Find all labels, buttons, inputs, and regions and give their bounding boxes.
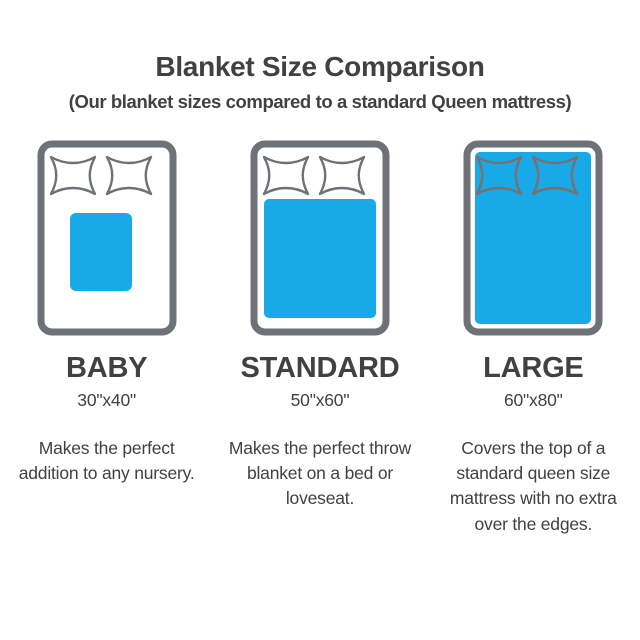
bed-diagram-large (463, 140, 603, 340)
column-standard: STANDARD 50"x60" Makes the perfect throw… (213, 140, 426, 512)
description-large: Covers the top of a standard queen size … (438, 436, 628, 538)
mattress-with-pillows-icon (37, 140, 177, 336)
pillow-right-icon (107, 157, 151, 194)
size-label-baby: BABY (66, 354, 147, 383)
size-label-standard: STANDARD (241, 354, 400, 383)
blanket-overlay-icon (70, 213, 132, 291)
page-title: Blanket Size Comparison (0, 52, 640, 83)
pillow-left-icon (264, 157, 308, 194)
description-standard: Makes the perfect throw blanket on a bed… (225, 436, 415, 512)
column-large: LARGE 60"x80" Covers the top of a standa… (427, 140, 640, 537)
blanket-size-comparison-infographic: Blanket Size Comparison (Our blanket siz… (0, 0, 640, 640)
description-baby: Makes the perfect addition to any nurser… (12, 436, 202, 487)
pillow-right-icon (320, 157, 364, 194)
size-dimensions-large: 60"x80" (504, 392, 563, 410)
blanket-overlay-icon (264, 199, 376, 318)
comparison-columns: BABY 30"x40" Makes the perfect addition … (0, 140, 640, 537)
header: Blanket Size Comparison (Our blanket siz… (0, 0, 640, 112)
mattress-with-pillows-icon (463, 140, 603, 336)
size-dimensions-baby: 30"x40" (77, 392, 136, 410)
blanket-overlay-icon (475, 152, 591, 324)
page-subtitle: (Our blanket sizes compared to a standar… (0, 92, 640, 112)
size-dimensions-standard: 50"x60" (291, 392, 350, 410)
pillow-left-icon (51, 157, 95, 194)
bed-diagram-baby (37, 140, 177, 340)
bed-diagram-standard (250, 140, 390, 340)
column-baby: BABY 30"x40" Makes the perfect addition … (0, 140, 213, 486)
size-label-large: LARGE (483, 354, 584, 383)
mattress-with-pillows-icon (250, 140, 390, 336)
